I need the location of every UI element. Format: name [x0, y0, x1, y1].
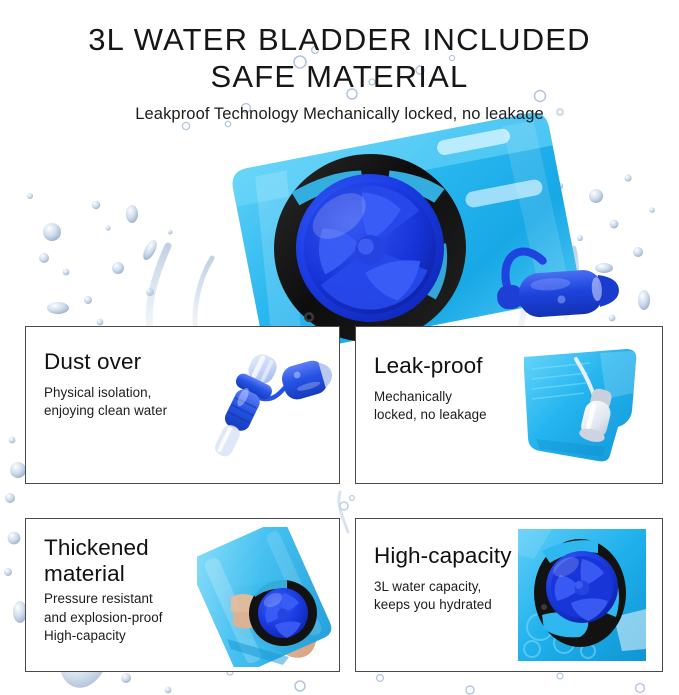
- product-marketing-image: 3L WATER BLADDER INCLUDED SAFE MATERIAL …: [0, 0, 679, 695]
- header: 3L WATER BLADDER INCLUDED SAFE MATERIAL …: [0, 22, 679, 124]
- feature-card-dust-over: Dust over Physical isolation, enjoying c…: [25, 326, 340, 484]
- feature-card-leak-proof: Leak-proof Mechanically locked, no leaka…: [355, 326, 663, 484]
- bite-valve-with-dust-cap-image: [187, 341, 337, 471]
- page-subtitle: Leakproof Technology Mechanically locked…: [0, 105, 679, 124]
- wide-mouth-cap-closeup-image: [518, 529, 646, 661]
- page-title-line-1: 3L WATER BLADDER INCLUDED: [0, 22, 679, 59]
- feature-card-thickened-material: Thickened material Pressure resistant an…: [25, 518, 340, 672]
- page-title-line-2: SAFE MATERIAL: [0, 59, 679, 96]
- bladder-corner-with-valve-image: [514, 339, 648, 471]
- hand-gripping-bladder-image: [197, 527, 333, 667]
- feature-card-high-capacity: High-capacity 3L water capacity, keeps y…: [355, 518, 663, 672]
